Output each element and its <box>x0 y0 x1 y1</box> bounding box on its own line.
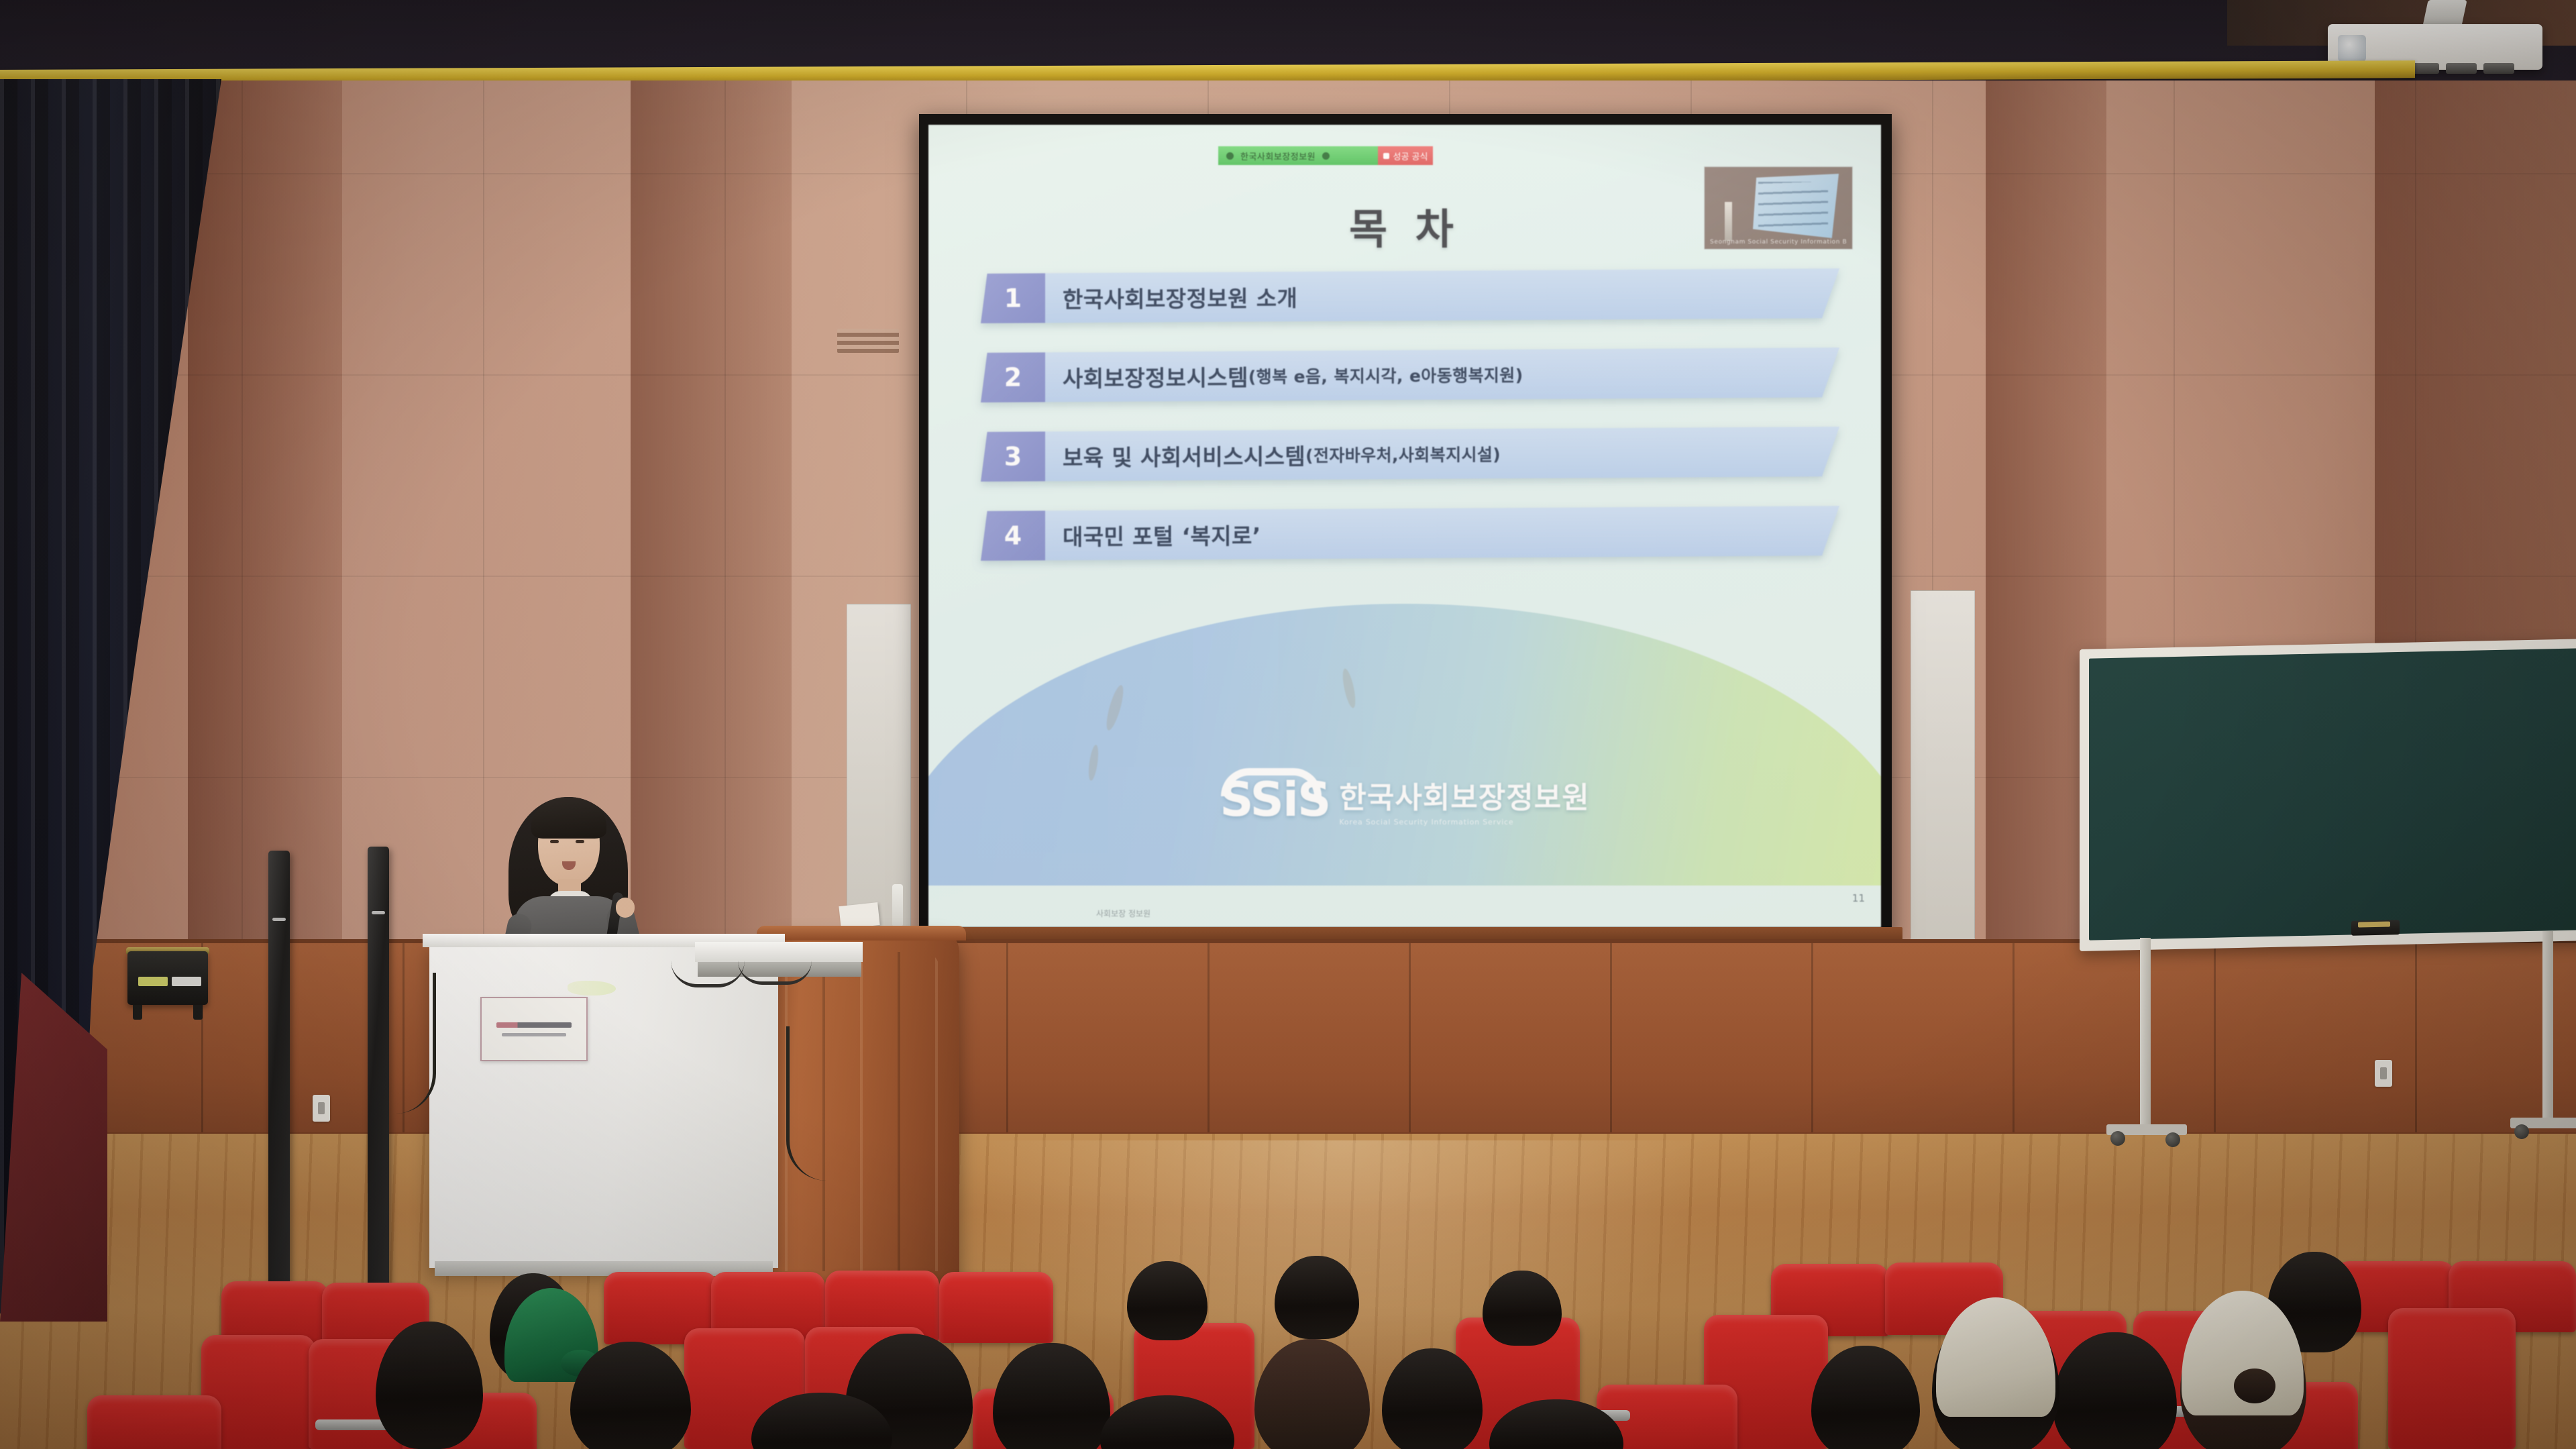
projection-screen: 한국사회보장정보원 성공 공식 목 차 Seongnam Social Secu… <box>928 125 1881 927</box>
agenda-label-1-main: 한국사회보장정보원 소개 <box>1063 280 1297 314</box>
lectern-sign <box>480 997 588 1061</box>
audience-head <box>1275 1256 1359 1339</box>
ssis-name-block: 한국사회보장정보원 Korea Social Security Informat… <box>1339 773 1589 826</box>
agenda-label-3-sub: (전자바우처,사회복지시설) <box>1305 441 1501 467</box>
seat <box>87 1395 221 1449</box>
papers-on-ledge <box>839 902 879 929</box>
ssis-arc-icon <box>1221 768 1322 796</box>
lectern-sign-line-1 <box>496 1022 572 1028</box>
right-side-panel <box>1911 590 1975 939</box>
amp-led-white <box>172 977 201 986</box>
amp-leg-right <box>193 1005 203 1020</box>
agenda-label-3: 보육 및 사회서비스시스템(전자바우처,사회복지시설) <box>1045 427 1839 481</box>
wall-outlet-icon <box>2375 1060 2392 1087</box>
presentation-slide: 한국사회보장정보원 성공 공식 목 차 Seongnam Social Secu… <box>928 125 1881 927</box>
topbar-red-segment: 성공 공식 <box>1378 146 1433 165</box>
chalkboard-wheel-left <box>2110 1131 2125 1146</box>
agenda-number-1: 1 <box>981 273 1045 323</box>
slide-page-number: 11 <box>1852 892 1865 904</box>
agenda-label-2: 사회보장정보시스템(행복 e음, 복지시각, e아동행복지원) <box>1045 347 1839 402</box>
cable-drop <box>786 1026 826 1181</box>
ssis-logo: SSiS 한국사회보장정보원 Korea Social Security Inf… <box>928 773 1881 826</box>
agenda-item-2: 2 사회보장정보시스템(행복 e음, 복지시각, e아동행복지원) <box>981 347 1839 402</box>
agenda-label-1: 한국사회보장정보원 소개 <box>1045 268 1839 323</box>
flagpole-icon <box>1725 202 1732 241</box>
ssis-wordmark: SSiS <box>1220 779 1330 821</box>
chalkboard-leg-right <box>2542 931 2553 1126</box>
building-photo-thumbnail: Seongnam Social Security Information Bui… <box>1704 166 1853 250</box>
ssis-korean-name: 한국사회보장정보원 <box>1339 773 1589 816</box>
cable-drop-left <box>396 973 436 1114</box>
agenda-label-2-main: 사회보장정보시스템 <box>1063 360 1248 393</box>
agenda-item-3: 3 보육 및 사회서비스시스템(전자바우처,사회복지시설) <box>981 427 1839 482</box>
amp-leg-left <box>133 1005 142 1020</box>
side-shelf <box>695 942 863 962</box>
chalkboard-wheel-right <box>2514 1124 2529 1139</box>
lectern-sign-line-2 <box>502 1033 566 1036</box>
speaker-tower-right-mark <box>372 911 385 914</box>
slide-footnote: 사회보장 정보원 <box>1096 908 1150 919</box>
audience-head <box>1127 1261 1207 1340</box>
auditorium-scene: 한국사회보장정보원 성공 공식 목 차 Seongnam Social Secu… <box>0 0 2576 1449</box>
seat <box>939 1272 1053 1343</box>
ssis-english-name: Korea Social Security Information Servic… <box>1339 818 1589 826</box>
cream-cap-2-brim-icon <box>2234 1368 2275 1403</box>
agenda-number-4: 4 <box>981 511 1045 561</box>
chalkboard-eraser <box>2351 920 2400 936</box>
water-bottle <box>892 884 903 926</box>
audience-head <box>1483 1271 1562 1346</box>
agenda-number-2: 2 <box>981 352 1045 402</box>
presenter <box>496 792 644 946</box>
audience-head <box>376 1322 483 1449</box>
agenda-item-4: 4 대국민 포털 ‘복지로’ <box>981 506 1839 561</box>
topbar-green-segment: 한국사회보장정보원 <box>1218 146 1378 165</box>
agenda-label-4: 대국민 포털 ‘복지로’ <box>1045 506 1839 560</box>
agenda-number-3: 3 <box>981 431 1045 482</box>
topbar-green-label: 한국사회보장정보원 <box>1240 150 1316 162</box>
building-windows <box>1758 182 1828 230</box>
seat <box>2388 1308 2516 1449</box>
agenda-item-1: 1 한국사회보장정보원 소개 <box>981 268 1839 323</box>
speaker-tower-left-mark <box>272 918 286 921</box>
audience-seating <box>0 1261 2576 1449</box>
topbar-red-label: 성공 공식 <box>1393 150 1428 162</box>
amp-led-yellow <box>138 977 168 986</box>
square-icon <box>1383 153 1389 159</box>
podium-top <box>757 926 966 941</box>
chalkboard-surface <box>2089 648 2576 940</box>
lectern-highlight <box>568 981 616 996</box>
agenda-list: 1 한국사회보장정보원 소개 2 사회보장정보시스템(행복 e음, 복지시각, … <box>981 271 1839 588</box>
chalkboard <box>2080 639 2576 951</box>
wall-vent-icon <box>837 329 899 353</box>
agenda-label-2-sub: (행복 e음, 복지시각, e아동행복지원) <box>1248 362 1523 388</box>
agenda-label-3-main: 보육 및 사회서비스시스템 <box>1063 439 1305 472</box>
agenda-label-4-main: 대국민 포털 ‘복지로’ <box>1063 518 1261 551</box>
slide-topbar: 한국사회보장정보원 성공 공식 <box>1218 146 1433 165</box>
speaker-tower-right <box>368 847 389 1309</box>
audience-head <box>993 1343 1110 1449</box>
chalkboard-leg-left <box>2140 938 2151 1132</box>
wall-outlet-stage-icon <box>313 1095 330 1122</box>
audience-head <box>1254 1339 1370 1449</box>
presenter-hand <box>616 898 635 918</box>
chalkboard-wheel-left2 <box>2165 1132 2180 1147</box>
slide-hill-graphic <box>928 604 1881 885</box>
dot-icon <box>1322 152 1330 160</box>
projector-lens-icon <box>2338 35 2366 62</box>
thumbnail-caption: Seongnam Social Security Information Bui… <box>1710 239 1847 246</box>
check-icon <box>1226 152 1234 160</box>
